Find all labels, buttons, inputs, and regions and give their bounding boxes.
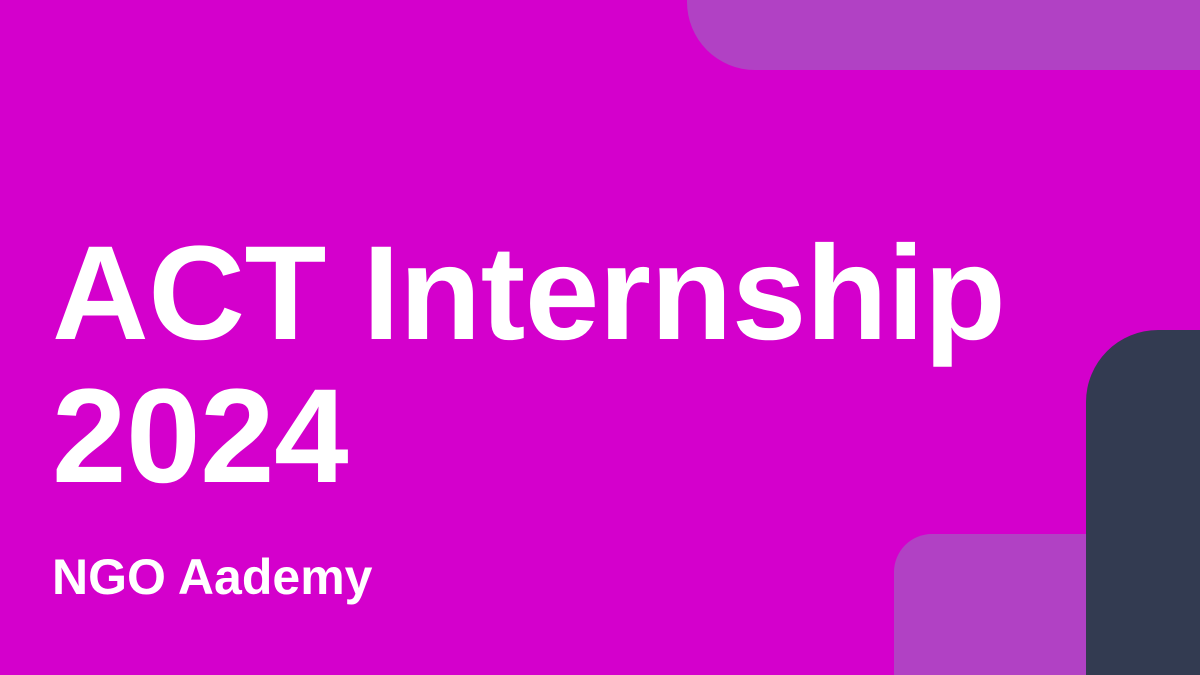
page-title: ACT Internship 2024: [52, 222, 1152, 508]
decorative-purple-panel-top-right: [687, 0, 1200, 70]
title-text-block: ACT Internship 2024 NGO Aademy: [52, 222, 1152, 604]
title-slide: ACT Internship 2024 NGO Aademy: [0, 0, 1200, 675]
subtitle: NGO Aademy: [52, 508, 1152, 604]
